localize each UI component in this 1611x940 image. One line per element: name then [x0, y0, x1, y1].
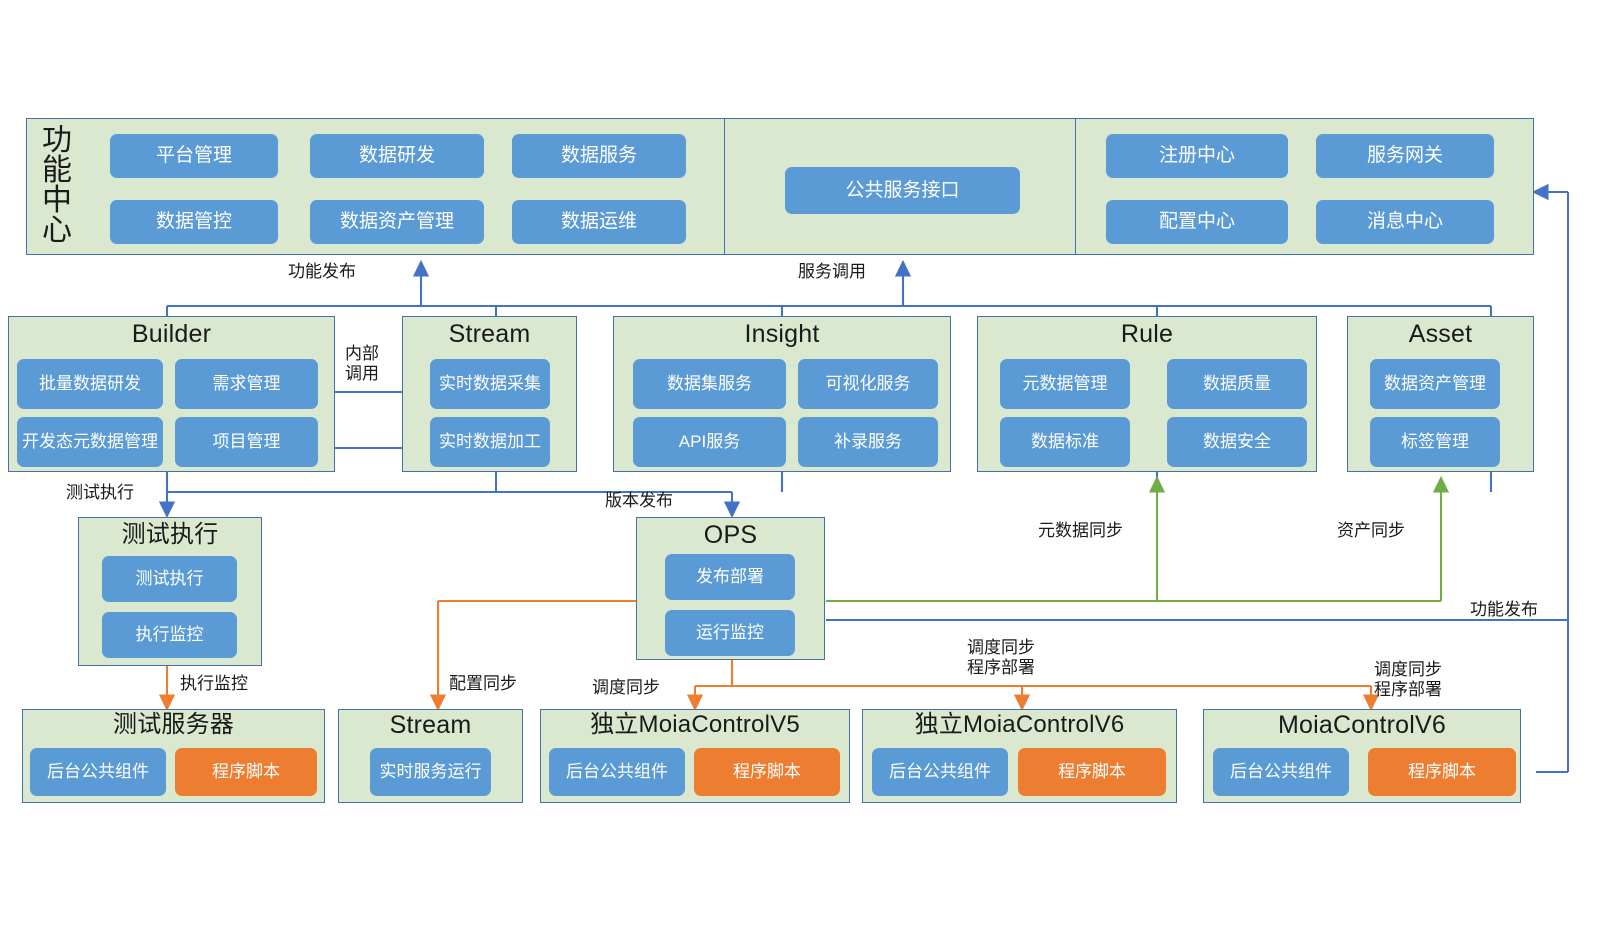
edge-label-function-publish-top: 功能发布: [288, 262, 356, 282]
edge-label-internal-call: 内部调用: [341, 344, 383, 384]
chip-batch-data-development[interactable]: 批量数据研发: [17, 359, 163, 409]
chip-visualization-service[interactable]: 可视化服务: [798, 359, 938, 409]
chip-registry-center[interactable]: 注册中心: [1106, 134, 1288, 178]
function-center-divider-2: [1075, 118, 1076, 255]
architecture-diagram: 功能中心 平台管理 数据研发 数据服务 数据管控 数据资产管理 数据运维 公共服…: [0, 0, 1611, 940]
chip-server-test-common-component[interactable]: 后台公共组件: [30, 748, 166, 796]
chip-service-gateway[interactable]: 服务网关: [1316, 134, 1494, 178]
edge-label-schedule-sync-deploy-right: 调度同步 程序部署: [1374, 660, 1442, 700]
chip-public-service-interface[interactable]: 公共服务接口: [785, 167, 1020, 214]
chip-moiacontrolv6-common-component[interactable]: 后台公共组件: [1213, 748, 1349, 796]
chip-config-center[interactable]: 配置中心: [1106, 200, 1288, 244]
edge-label-config-sync: 配置同步: [449, 674, 517, 694]
panel-insight-title: Insight: [614, 321, 950, 347]
chip-dev-metadata-management[interactable]: 开发态元数据管理: [17, 417, 163, 467]
chip-data-asset-management[interactable]: 数据资产管理: [310, 200, 484, 244]
panel-server-moiacontrolv5-title: 独立MoiaControlV5: [541, 712, 849, 737]
chip-moiacontrolv5-common-component[interactable]: 后台公共组件: [549, 748, 685, 796]
chip-data-service[interactable]: 数据服务: [512, 134, 686, 178]
chip-asset-data-asset-management[interactable]: 数据资产管理: [1370, 359, 1500, 409]
chip-data-security[interactable]: 数据安全: [1167, 417, 1307, 467]
chip-moiacontrolv5-script[interactable]: 程序脚本: [694, 748, 840, 796]
chip-api-service[interactable]: API服务: [633, 417, 786, 467]
edge-label-metadata-sync: 元数据同步: [1038, 521, 1123, 541]
chip-realtime-data-collection[interactable]: 实时数据采集: [430, 359, 550, 409]
chip-data-development[interactable]: 数据研发: [310, 134, 484, 178]
edge-label-test-execution: 测试执行: [66, 483, 134, 503]
chip-project-management[interactable]: 项目管理: [175, 417, 318, 467]
panel-ops-title: OPS: [637, 522, 824, 548]
chip-release-deploy[interactable]: 发布部署: [665, 554, 795, 600]
chip-requirement-management[interactable]: 需求管理: [175, 359, 318, 409]
function-center-divider-1: [724, 118, 725, 255]
panel-server-stream-title: Stream: [339, 712, 522, 738]
function-center-label: 功能中心: [40, 126, 74, 246]
edge-label-asset-sync: 资产同步: [1337, 521, 1405, 541]
panel-asset-title: Asset: [1348, 321, 1533, 347]
edge-label-function-publish-right: 功能发布: [1470, 600, 1538, 620]
chip-platform-management[interactable]: 平台管理: [110, 134, 278, 178]
edge-label-execution-monitoring: 执行监控: [180, 674, 248, 694]
edge-label-schedule-sync: 调度同步: [592, 678, 660, 698]
panel-builder-title: Builder: [9, 321, 334, 347]
edge-label-schedule-sync-deploy-mid: 调度同步 程序部署: [967, 638, 1035, 678]
chip-server-stream-runtime[interactable]: 实时服务运行: [370, 748, 491, 796]
chip-dataset-service[interactable]: 数据集服务: [633, 359, 786, 409]
chip-independent-moiacontrolv6-script[interactable]: 程序脚本: [1018, 748, 1166, 796]
panel-rule-title: Rule: [978, 321, 1316, 347]
panel-test-execution-title: 测试执行: [79, 522, 261, 547]
chip-data-governance[interactable]: 数据管控: [110, 200, 278, 244]
panel-stream-title: Stream: [403, 321, 576, 347]
panel-server-test-title: 测试服务器: [23, 712, 324, 737]
chip-moiacontrolv6-script[interactable]: 程序脚本: [1368, 748, 1516, 796]
chip-metadata-management[interactable]: 元数据管理: [1000, 359, 1130, 409]
edge-label-service-call: 服务调用: [798, 262, 866, 282]
chip-test-execution[interactable]: 测试执行: [102, 556, 237, 602]
chip-message-center[interactable]: 消息中心: [1316, 200, 1494, 244]
chip-data-operations[interactable]: 数据运维: [512, 200, 686, 244]
chip-independent-moiacontrolv6-common-component[interactable]: 后台公共组件: [872, 748, 1008, 796]
chip-supplement-service[interactable]: 补录服务: [798, 417, 938, 467]
chip-server-test-script[interactable]: 程序脚本: [175, 748, 317, 796]
chip-realtime-data-processing[interactable]: 实时数据加工: [430, 417, 550, 467]
chip-execution-monitoring[interactable]: 执行监控: [102, 612, 237, 658]
chip-runtime-monitoring[interactable]: 运行监控: [665, 610, 795, 656]
edge-label-version-release: 版本发布: [605, 491, 673, 511]
chip-data-standard[interactable]: 数据标准: [1000, 417, 1130, 467]
panel-server-independent-moiacontrolv6-title: 独立MoiaControlV6: [863, 712, 1176, 737]
chip-tag-management[interactable]: 标签管理: [1370, 417, 1500, 467]
panel-server-moiacontrolv6-title: MoiaControlV6: [1204, 712, 1520, 738]
chip-data-quality[interactable]: 数据质量: [1167, 359, 1307, 409]
